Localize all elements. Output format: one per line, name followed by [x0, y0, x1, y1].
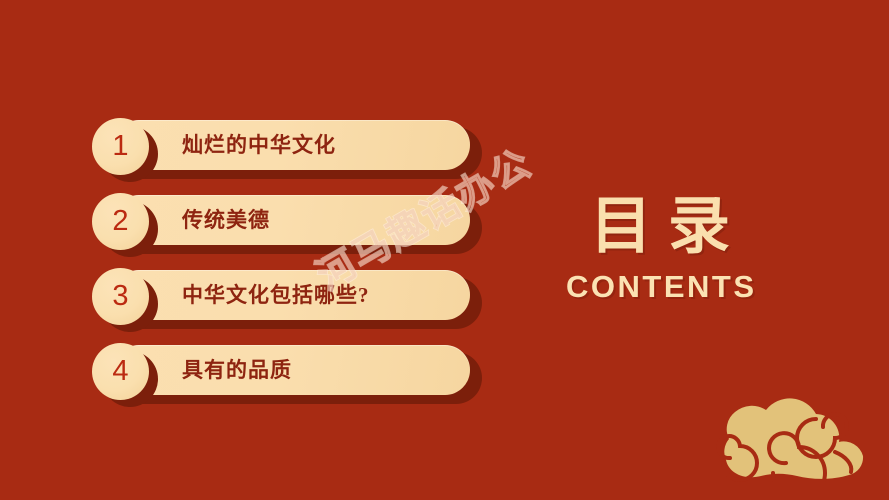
page-title: 目录	[545, 188, 775, 266]
number-badge: 2	[92, 193, 149, 250]
number-badge: 3	[92, 268, 149, 325]
pill-background	[114, 195, 470, 245]
toc-slide: 灿烂的中华文化 1 传统美德 2 中华文化包括哪些? 3	[0, 0, 889, 500]
list-item[interactable]: 具有的品质 4	[92, 343, 482, 401]
title-block: 目录 CONTENTS	[545, 188, 775, 304]
list-item-label: 灿烂的中华文化	[182, 120, 336, 170]
table-of-contents-list: 灿烂的中华文化 1 传统美德 2 中华文化包括哪些? 3	[0, 0, 520, 500]
number-badge-label: 2	[92, 193, 149, 250]
list-item-label: 传统美德	[182, 195, 270, 245]
list-item[interactable]: 传统美德 2	[92, 193, 482, 251]
auspicious-cloud-icon	[685, 377, 875, 492]
list-item-label: 中华文化包括哪些?	[182, 270, 370, 320]
number-badge-label: 3	[92, 268, 149, 325]
list-item-label: 具有的品质	[182, 345, 292, 395]
number-badge-label: 4	[92, 343, 149, 400]
number-badge-label: 1	[92, 118, 149, 175]
page-subtitle: CONTENTS	[545, 270, 775, 304]
pill-background	[114, 345, 470, 395]
number-badge: 4	[92, 343, 149, 400]
list-item[interactable]: 灿烂的中华文化 1	[92, 118, 482, 176]
number-badge: 1	[92, 118, 149, 175]
list-item[interactable]: 中华文化包括哪些? 3	[92, 268, 482, 326]
